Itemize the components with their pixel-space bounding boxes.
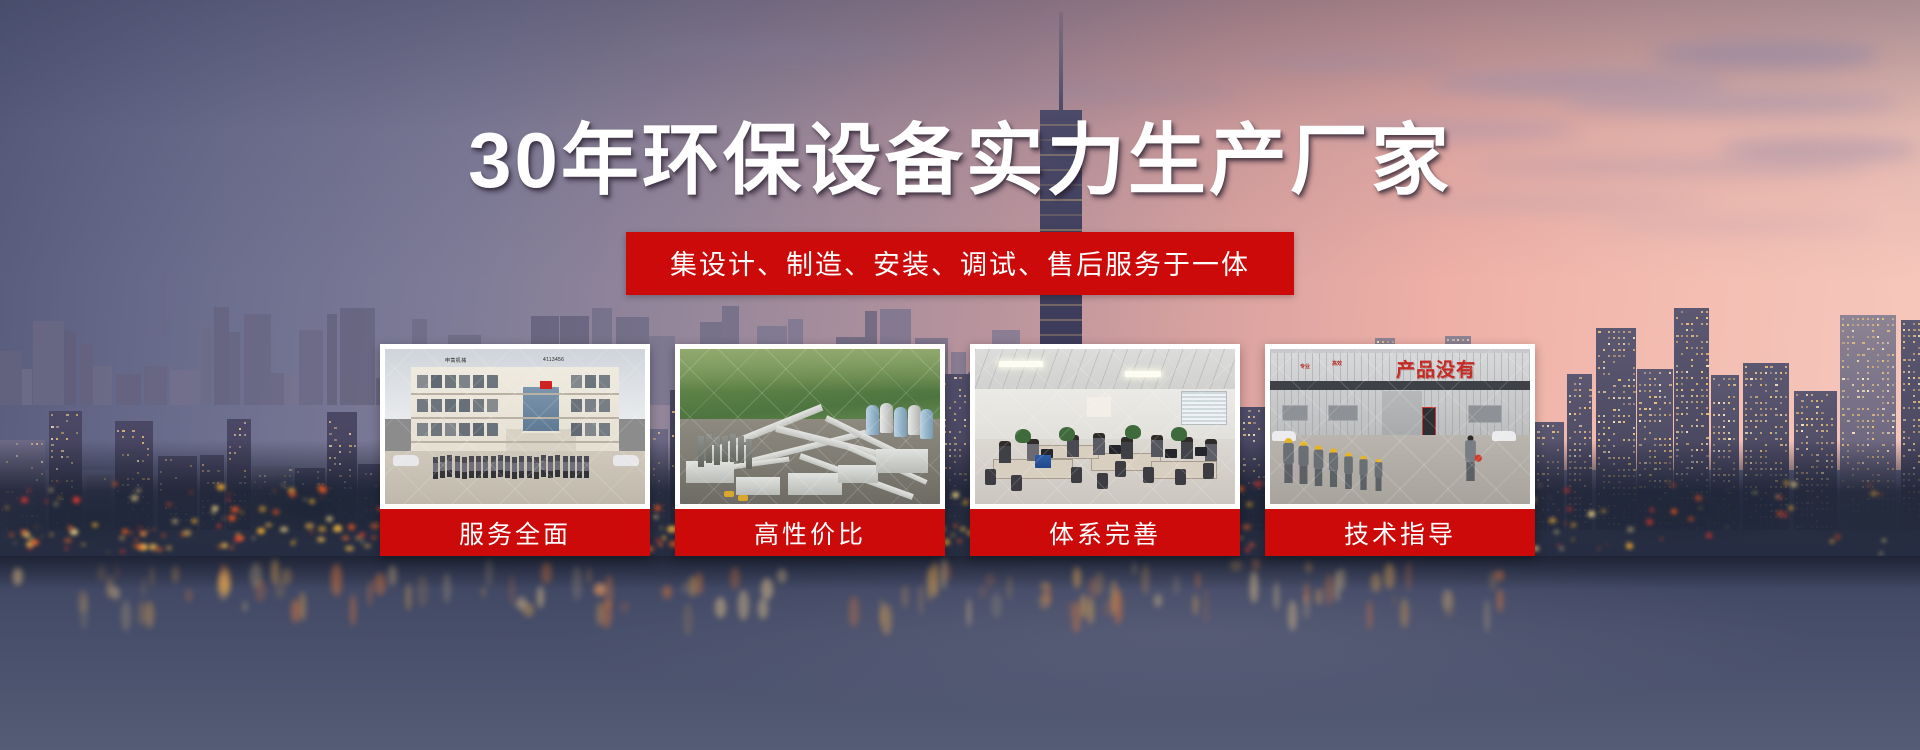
office-interior-photo — [975, 349, 1235, 504]
page-title: 30年环保设备实力生产厂家 — [0, 98, 1920, 210]
photo4-slogan-1: 专业 — [1300, 363, 1310, 370]
photo1-phone-number: 4113456 — [543, 357, 564, 363]
hero-banner: 30年环保设备实力生产厂家 集设计、制造、安装、调试、售后服务于一体 申蒿机械 … — [0, 0, 1920, 750]
photo4-slogan-2: 高效 — [1332, 360, 1342, 367]
feature-card[interactable]: 产品没有 专业 高效 技术指导 — [1265, 344, 1535, 556]
feature-card[interactable]: 申蒿机械 4113456 服务全面 — [380, 344, 650, 556]
subtitle-bar-wrapper: 集设计、制造、安装、调试、售后服务于一体 — [0, 232, 1920, 295]
feature-card-caption: 高性价比 — [675, 509, 945, 556]
factory-workers-photo: 产品没有 专业 高效 — [1270, 349, 1530, 504]
photo4-factory-sign: 产品没有 — [1396, 355, 1476, 382]
production-plant-aerial-photo — [680, 349, 940, 504]
feature-card[interactable]: 高性价比 — [675, 344, 945, 556]
feature-card-list: 申蒿机械 4113456 服务全面 高性价比 — [380, 344, 1540, 556]
water-sheen — [0, 556, 1920, 750]
feature-card[interactable]: 体系完善 — [970, 344, 1240, 556]
company-headquarters-photo: 申蒿机械 4113456 — [385, 349, 645, 504]
feature-card-caption: 技术指导 — [1265, 509, 1535, 556]
photo1-building-sign: 申蒿机械 — [445, 357, 467, 364]
feature-card-caption: 服务全面 — [380, 509, 650, 556]
feature-card-caption: 体系完善 — [970, 509, 1240, 556]
subtitle-banner: 集设计、制造、安装、调试、售后服务于一体 — [626, 232, 1294, 295]
